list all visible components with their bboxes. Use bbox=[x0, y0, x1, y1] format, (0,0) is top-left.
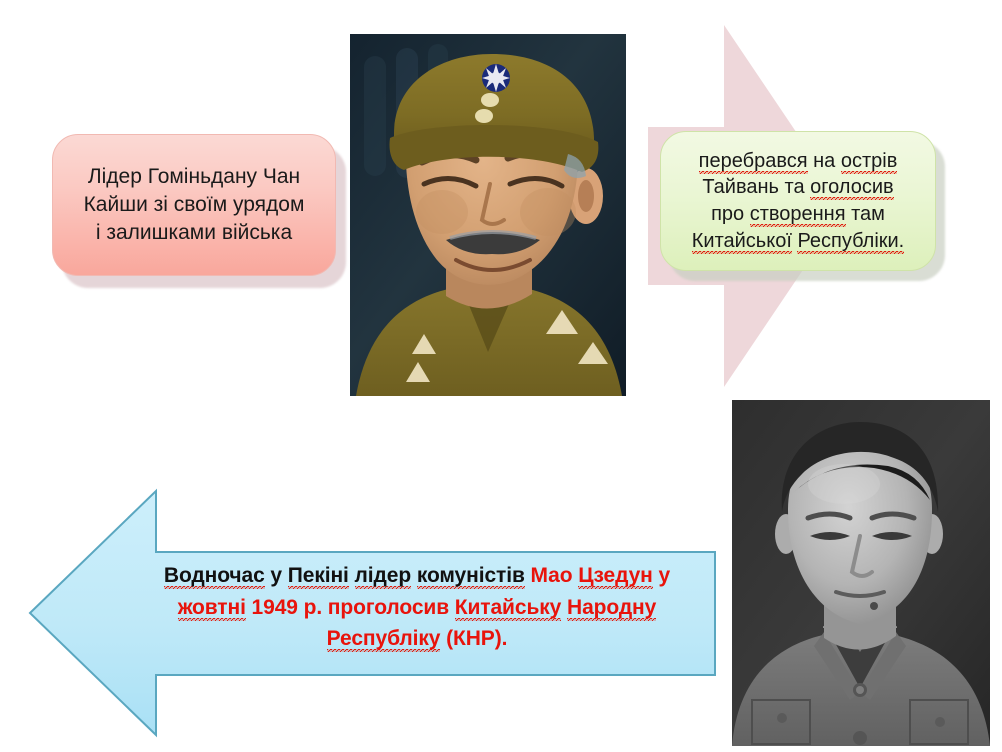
blue-arrow-text-line-3: Республіку (КНР). bbox=[134, 623, 700, 655]
green-callout-text: перебрався на острівТайвань та оголосивп… bbox=[692, 148, 905, 254]
misspelled-word: Республіки. bbox=[797, 230, 904, 254]
text-run: там bbox=[846, 203, 885, 225]
green-callout-line-3: про створення там bbox=[692, 201, 905, 228]
misspelled-word: Китайської bbox=[692, 230, 792, 254]
slide-canvas: Лідер Гоміньдану Чан Кайши зі своїм уряд… bbox=[0, 0, 1002, 752]
misspelled-word: оголосив bbox=[810, 176, 893, 200]
green-callout-line-1: перебрався на острів bbox=[692, 148, 905, 175]
green-callout-line-4: Китайської Республіки. bbox=[692, 228, 905, 255]
text-run: 1949 р. проголосив bbox=[246, 596, 455, 619]
chiang-portrait-illustration bbox=[350, 34, 626, 396]
text-run bbox=[411, 564, 417, 587]
text-run: у bbox=[265, 564, 288, 587]
misspelled-word: створення bbox=[750, 203, 846, 227]
mao-zedong-photo bbox=[732, 400, 990, 746]
misspelled-word: перебрався bbox=[699, 150, 808, 174]
text-run bbox=[349, 564, 355, 587]
misspelled-word: лідер bbox=[355, 564, 412, 589]
mao-portrait-illustration bbox=[732, 400, 990, 746]
misspelled-word: Народну bbox=[567, 596, 656, 621]
blue-arrow-text-line-1: Водночас у Пекіні лідер комуністів Мао Ц… bbox=[134, 560, 700, 592]
green-callout-box: перебрався на острівТайвань та оголосивп… bbox=[660, 131, 936, 271]
pink-callout-text: Лідер Гоміньдану Чан Кайши зі своїм уряд… bbox=[84, 163, 305, 247]
green-callout-line-2: Тайвань та оголосив bbox=[692, 174, 905, 201]
pink-callout-box: Лідер Гоміньдану Чан Кайши зі своїм уряд… bbox=[52, 134, 336, 276]
misspelled-word: жовтні bbox=[178, 596, 246, 621]
blue-arrow-text: Водночас у Пекіні лідер комуністів Мао Ц… bbox=[134, 560, 700, 655]
text-run: на bbox=[808, 150, 841, 172]
pink-callout-line-1: Лідер Гоміньдану Чан bbox=[84, 163, 305, 191]
text-run: Мао bbox=[531, 564, 573, 587]
text-run: про bbox=[711, 203, 750, 225]
misspelled-word: комуністів bbox=[417, 564, 525, 589]
misspelled-word: Водночас bbox=[164, 564, 265, 589]
text-run: Тайвань та bbox=[702, 176, 810, 198]
pink-callout-line-3: і залишками війська bbox=[84, 219, 305, 247]
misspelled-word: Пекіні bbox=[288, 564, 349, 589]
misspelled-word: Цзедун bbox=[578, 564, 653, 589]
text-run: (КНР). bbox=[440, 627, 507, 650]
pink-callout-line-2: Кайши зі своїм урядом bbox=[84, 191, 305, 219]
misspelled-word: острів bbox=[841, 150, 897, 174]
misspelled-word: Республіку bbox=[327, 627, 441, 652]
text-run: у bbox=[653, 564, 670, 587]
misspelled-word: Китайську bbox=[455, 596, 561, 621]
chiang-kai-shek-photo bbox=[350, 34, 626, 396]
blue-arrow-text-line-2: жовтні 1949 р. проголосив Китайську Наро… bbox=[134, 592, 700, 624]
